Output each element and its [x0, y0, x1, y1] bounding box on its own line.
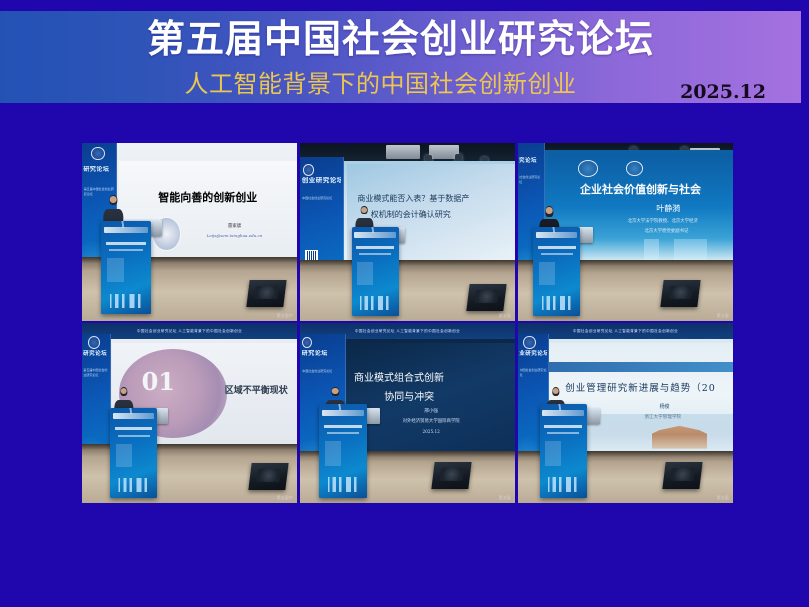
photo-bottom-middle[interactable]: 中国社会创业研究论坛 人工智能背景下的中国社会创新创业 商业模式组合式创新 协同… — [300, 323, 515, 503]
conference-logo-icon — [91, 147, 105, 161]
backdrop-subtitle: 中国社会创业研究论坛 — [302, 196, 341, 201]
header-banner: 第五届中国社会创业研究论坛 人工智能背景下的中国社会创新创业 2025.12 — [0, 11, 801, 103]
forum-date: 2025.12 — [680, 81, 766, 103]
photo-watermark: 第五届 — [499, 313, 511, 319]
conference-logo-icon — [523, 336, 535, 349]
photo-watermark: 第五届 — [717, 495, 729, 501]
podium — [352, 227, 399, 316]
conference-logo-icon — [303, 164, 314, 176]
backdrop-title: 究论坛 — [519, 157, 543, 165]
slide-title: 企业社会价值创新与社会 — [548, 181, 733, 197]
slide-speaker: 雷家骕 — [179, 223, 290, 229]
backdrop-subtitle: 第五届中国社会创业研究论坛 — [84, 187, 115, 197]
photo-bottom-left[interactable]: 中国社会创业研究论坛 人工智能背景下的中国社会创新创业 01 区域不平衡现状 研… — [82, 323, 297, 503]
photo-watermark: 第五届 — [499, 495, 511, 501]
slide-speaker: 叶静漪 — [611, 203, 726, 214]
conference-logo-icon — [302, 337, 312, 349]
backdrop-title: 创业研究论坛 — [302, 177, 342, 185]
stage-banner-text: 中国社会创业研究论坛 人工智能背景下的中国社会创新创业 — [82, 323, 297, 339]
photo-top-middle[interactable]: 商业模式能否入表？基于数据产 权机制的会计确认研究 报告人：黄速建 2025.1… — [300, 143, 515, 321]
presentation-slide: 商业模式组合式创新 协同与冲突 邢小强 对外经济贸易大学国际商学院 2025.1… — [347, 343, 515, 451]
photo-watermark: 第五届 — [717, 313, 729, 319]
backdrop-title: 研究论坛 — [83, 350, 109, 358]
conference-logo-icon — [88, 336, 100, 349]
stage-banner-text: 中国社会创业研究论坛 人工智能背景下的中国社会创新创业 — [518, 323, 733, 339]
backdrop-subtitle: 中国社会创业研究论坛 — [520, 368, 547, 378]
photo-watermark: 第五届中 — [277, 313, 293, 319]
photo-grid: 教育强国建设时代的社会教育改革与创新研究 智能向善的创新创业 雷家骕 Leijs… — [82, 143, 727, 508]
slide-blue-band — [548, 362, 733, 372]
photo-top-left[interactable]: 教育强国建设时代的社会教育改革与创新研究 智能向善的创新创业 雷家骕 Leijs… — [82, 143, 297, 321]
university-emblem-icon — [626, 161, 643, 176]
podium — [110, 408, 157, 498]
slide-title-line2: 协同与冲突 — [384, 388, 515, 403]
podium — [101, 221, 150, 314]
slide-title: 商业模式能否入表？基于数据产 — [357, 193, 515, 204]
slide-title: 商业模式组合式创新 — [354, 369, 515, 384]
slide-affiliation: 对外经济贸易大学国际商学院 — [377, 418, 484, 424]
photo-bottom-right[interactable]: 中国社会创业研究论坛 人工智能背景下的中国社会创新创业 创业管理研究新进展与趋势… — [518, 323, 733, 503]
stage-monitor-speaker — [660, 280, 700, 307]
podium — [533, 227, 580, 316]
backdrop-subtitle: 第五届中国社会创业研究论坛 — [83, 368, 108, 378]
slide-date: 2025.12 — [384, 429, 478, 434]
stage-monitor-speaker — [432, 462, 472, 489]
light-truss — [386, 145, 420, 159]
backdrop-title: 研究论坛 — [302, 350, 344, 358]
slide-title-line2: 权机制的会计确认研究 — [371, 209, 515, 220]
slide-speaker: 邢小强 — [384, 408, 478, 414]
stage-monitor-speaker — [246, 280, 286, 307]
podium — [319, 404, 366, 498]
stage-monitor-speaker — [466, 284, 506, 311]
photo-watermark: 第五届中 — [277, 495, 293, 501]
stage-monitor-speaker — [248, 463, 288, 490]
slide-title: 智能向善的创新创业 — [119, 189, 297, 205]
page-title: 第五届中国社会创业研究论坛 — [0, 15, 801, 63]
slide-affiliation: 北京大学法学院教授、北京大学经济 — [596, 218, 729, 224]
slide-affiliation: Leijs@sem.tsinghua.edu.cn — [179, 233, 290, 238]
slide-affiliation-line2: 北京大学原党委副书记 — [604, 228, 730, 234]
podium — [540, 404, 587, 498]
university-emblem-icon — [578, 160, 598, 177]
slide-title: 创业管理研究新进展与趋势（20 — [548, 380, 733, 394]
slide-title: 区域不平衡现状 — [216, 383, 297, 396]
slide-speaker: 杨俊 — [622, 403, 707, 410]
backdrop-title: 研究论坛 — [83, 166, 115, 174]
stage-monitor-speaker — [663, 462, 703, 489]
backdrop-subtitle: 中国社会创业研究论坛 — [302, 369, 343, 374]
photo-top-right[interactable]: 企业社会价值创新与社会 叶静漪 北京大学法学院教授、北京大学经济 北京大学原党委… — [518, 143, 733, 321]
backdrop-subtitle: 社会创业研究论坛 — [519, 175, 542, 185]
backdrop-title: 业研究论坛 — [519, 350, 547, 358]
